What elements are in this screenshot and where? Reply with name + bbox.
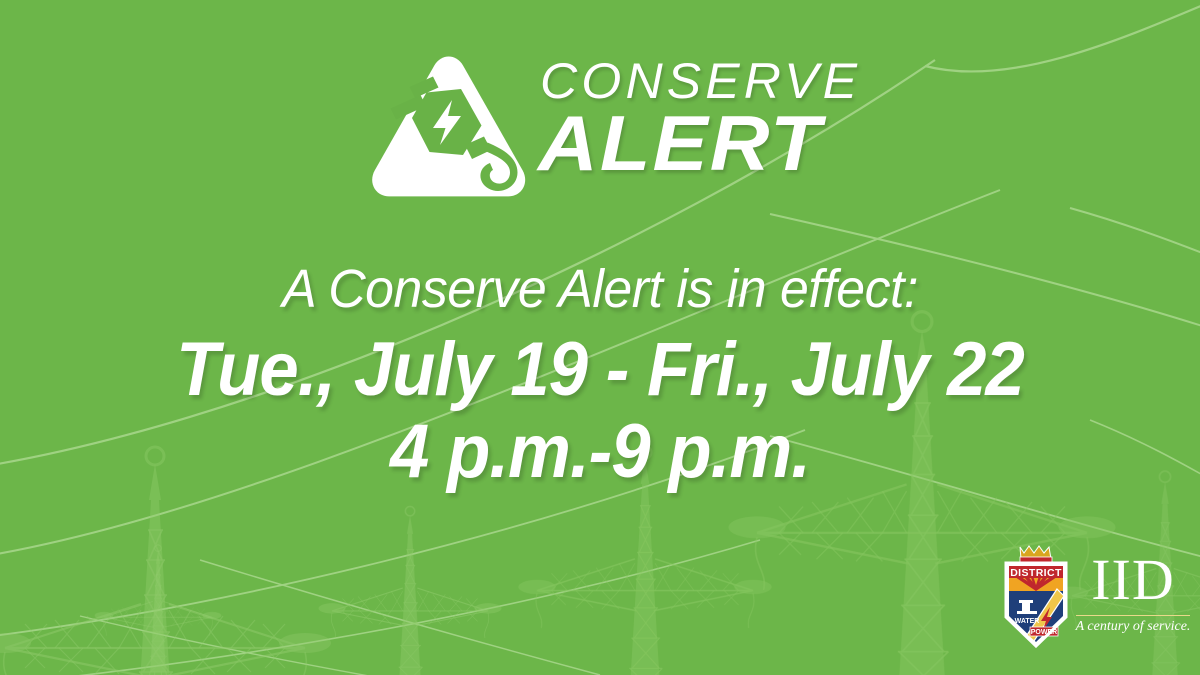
iid-divider-rule bbox=[1076, 615, 1190, 616]
alert-time-range: 4 p.m.-9 p.m. bbox=[42, 414, 1158, 490]
conserve-alert-plug-triangle-icon bbox=[360, 46, 532, 212]
iid-wordmark: IID A century of service. bbox=[1074, 551, 1192, 649]
alert-date-range: Tue., July 19 - Fri., July 22 bbox=[42, 332, 1158, 408]
iid-tagline: A century of service. bbox=[1074, 619, 1192, 634]
iid-crest-icon: DISTRICT WATER POWER bbox=[1000, 545, 1072, 649]
iid-logo: DISTRICT WATER POWER IID A century of se bbox=[1000, 545, 1192, 655]
iid-letters: IID bbox=[1074, 551, 1192, 609]
crest-label-water: WATER bbox=[1015, 618, 1040, 625]
crest-banner-district: DISTRICT bbox=[1010, 567, 1062, 579]
conserve-alert-graphic: CONSERVE ALERT A Conserve Alert is in ef… bbox=[0, 0, 1200, 675]
conserve-alert-logo: CONSERVE ALERT bbox=[360, 42, 860, 214]
alert-message-block: A Conserve Alert is in effect: Tue., Jul… bbox=[0, 262, 1200, 490]
alert-intro-text: A Conserve Alert is in effect: bbox=[24, 262, 1176, 316]
conserve-alert-wordmark: CONSERVE ALERT bbox=[538, 42, 858, 214]
logo-line-alert: ALERT bbox=[538, 104, 823, 182]
